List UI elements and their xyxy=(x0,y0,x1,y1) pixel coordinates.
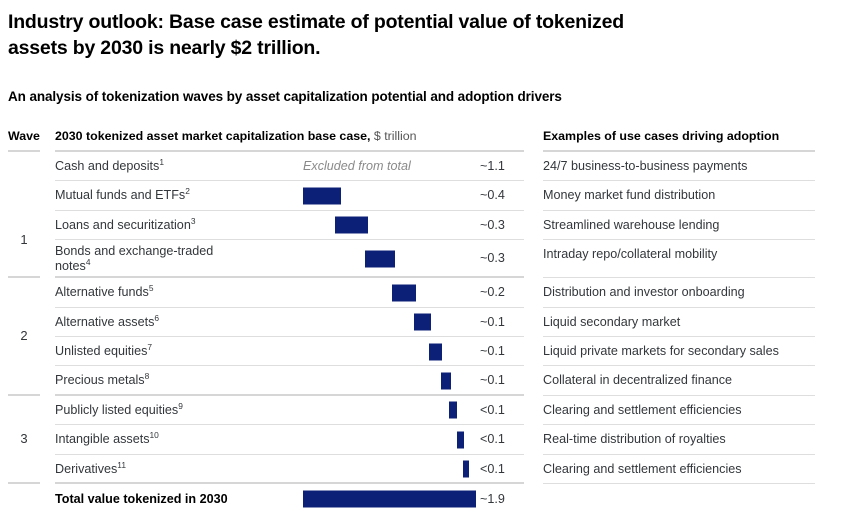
cell-use-case: Liquid private markets for secondary sal… xyxy=(532,337,845,366)
page-title: Industry outlook: Base case estimate of … xyxy=(8,9,668,61)
cell-main: Alternative assets6~0.1 xyxy=(48,308,532,337)
cell-use-case: 24/7 business-to-business payments xyxy=(532,152,845,181)
cell-wave xyxy=(0,152,48,181)
cell-main: Total value tokenized in 2030~1.9 xyxy=(48,484,532,515)
cell-use-case: Clearing and settlement efficiencies xyxy=(532,396,845,425)
table-row: Cash and deposits1Excluded from total~1.… xyxy=(0,152,845,181)
use-case-label: 24/7 business-to-business payments xyxy=(532,152,845,174)
cell-main: Precious metals8~0.1 xyxy=(48,366,532,395)
cell-use-case: Distribution and investor onboarding xyxy=(532,278,845,307)
table-body: Cash and deposits1Excluded from total~1.… xyxy=(0,152,845,515)
cell-main: Bonds and exchange-traded notes4~0.3 xyxy=(48,240,532,278)
footnote-marker: 7 xyxy=(147,342,152,352)
footnote-marker: 2 xyxy=(185,186,190,196)
footnote-marker: 9 xyxy=(178,401,183,411)
header-cell-wave: Wave xyxy=(0,126,48,152)
infographic-page: Industry outlook: Base case estimate of … xyxy=(0,0,845,527)
cell-main: Loans and securitization3~0.3 xyxy=(48,211,532,240)
use-case-label: Liquid private markets for secondary sal… xyxy=(532,337,845,359)
asset-class-label: Alternative assets6 xyxy=(48,308,532,330)
asset-class-label: Publicly listed equities9 xyxy=(48,396,532,418)
asset-class-label: Precious metals8 xyxy=(48,366,532,388)
asset-class-label: Bonds and exchange-traded notes4 xyxy=(48,240,532,274)
cell-use-case: Collateral in decentralized finance xyxy=(532,366,845,395)
asset-class-label: Mutual funds and ETFs2 xyxy=(48,181,532,203)
cell-use-case: Intraday repo/collateral mobility xyxy=(532,240,845,278)
use-case-label: Streamlined warehouse lending xyxy=(532,211,845,233)
footnote-marker: 6 xyxy=(154,312,159,322)
use-case-label: Real-time distribution of royalties xyxy=(532,425,845,447)
use-case-label: Money market fund distribution xyxy=(532,181,845,203)
header-main-bold: 2030 tokenized asset market capitalizati… xyxy=(55,129,370,143)
asset-class-label: Derivatives11 xyxy=(48,455,532,477)
cell-wave xyxy=(0,278,48,307)
wave-number-1: 1 xyxy=(0,232,48,247)
header-cell-main: 2030 tokenized asset market capitalizati… xyxy=(48,126,532,152)
cell-wave xyxy=(0,484,48,515)
footnote-marker: 3 xyxy=(191,216,196,226)
table-row: Unlisted equities7~0.1Liquid private mar… xyxy=(0,337,845,366)
total-label: Total value tokenized in 2030 xyxy=(48,484,532,507)
header-main-unit: $ trillion xyxy=(370,129,416,143)
cell-use-case: Clearing and settlement efficiencies xyxy=(532,455,845,484)
table-row: Alternative assets6~0.1Liquid secondary … xyxy=(0,308,845,337)
cell-main: Intangible assets10<0.1 xyxy=(48,425,532,454)
use-case-label: Collateral in decentralized finance xyxy=(532,366,845,388)
header-label-wave: Wave xyxy=(0,126,48,144)
asset-class-label: Alternative funds5 xyxy=(48,278,532,300)
wave-number-2: 2 xyxy=(0,328,48,343)
use-case-label: Clearing and settlement efficiencies xyxy=(532,455,845,477)
footnote-marker: 5 xyxy=(149,283,154,293)
cell-use-case: Money market fund distribution xyxy=(532,181,845,210)
table-row: Derivatives11<0.1Clearing and settlement… xyxy=(0,455,845,484)
cell-main: Alternative funds5~0.2 xyxy=(48,278,532,307)
cell-main: Cash and deposits1Excluded from total~1.… xyxy=(48,152,532,181)
cell-main: Mutual funds and ETFs2~0.4 xyxy=(48,181,532,210)
data-table: Wave 2030 tokenized asset market capital… xyxy=(0,126,845,515)
footnote-marker: 1 xyxy=(159,157,164,167)
use-case-label: Intraday repo/collateral mobility xyxy=(532,240,845,262)
page-subtitle: An analysis of tokenization waves by ass… xyxy=(8,88,768,106)
cell-main: Derivatives11<0.1 xyxy=(48,455,532,484)
table-row: Precious metals8~0.1Collateral in decent… xyxy=(0,366,845,395)
footnote-marker: 8 xyxy=(145,371,150,381)
table-row: Alternative funds5~0.2Distribution and i… xyxy=(0,278,845,307)
footnote-marker: 11 xyxy=(117,459,126,469)
table-row: Loans and securitization3~0.3Streamlined… xyxy=(0,211,845,240)
cell-wave xyxy=(0,396,48,425)
total-row: Total value tokenized in 2030~1.9 xyxy=(0,484,845,515)
use-case-label: Clearing and settlement efficiencies xyxy=(532,396,845,418)
table-row: Mutual funds and ETFs2~0.4Money market f… xyxy=(0,181,845,210)
footnote-marker: 4 xyxy=(86,257,91,267)
cell-use-case: Liquid secondary market xyxy=(532,308,845,337)
footnote-marker: 10 xyxy=(150,430,159,440)
wave-number-3: 3 xyxy=(0,431,48,446)
cell-wave xyxy=(0,181,48,210)
asset-class-label: Loans and securitization3 xyxy=(48,211,532,233)
table-header-row: Wave 2030 tokenized asset market capital… xyxy=(0,126,845,152)
asset-class-label: Cash and deposits1 xyxy=(48,152,532,174)
cell-main: Unlisted equities7~0.1 xyxy=(48,337,532,366)
cell-use-case: Real-time distribution of royalties xyxy=(532,425,845,454)
cell-wave xyxy=(0,366,48,395)
use-case-label: Distribution and investor onboarding xyxy=(532,278,845,300)
header-label-main: 2030 tokenized asset market capitalizati… xyxy=(48,126,532,144)
cell-wave xyxy=(0,455,48,484)
cell-use-case xyxy=(532,484,845,515)
table-row: Publicly listed equities9<0.1Clearing an… xyxy=(0,396,845,425)
asset-class-label: Unlisted equities7 xyxy=(48,337,532,359)
table-row: Bonds and exchange-traded notes4~0.3Intr… xyxy=(0,240,845,278)
header-cell-use-cases: Examples of use cases driving adoption xyxy=(532,126,845,152)
cell-main: Publicly listed equities9<0.1 xyxy=(48,396,532,425)
use-case-label: Liquid secondary market xyxy=(532,308,845,330)
asset-class-label: Intangible assets10 xyxy=(48,425,532,447)
table-row: Intangible assets10<0.1Real-time distrib… xyxy=(0,425,845,454)
header-label-use-cases: Examples of use cases driving adoption xyxy=(532,126,845,144)
cell-use-case: Streamlined warehouse lending xyxy=(532,211,845,240)
